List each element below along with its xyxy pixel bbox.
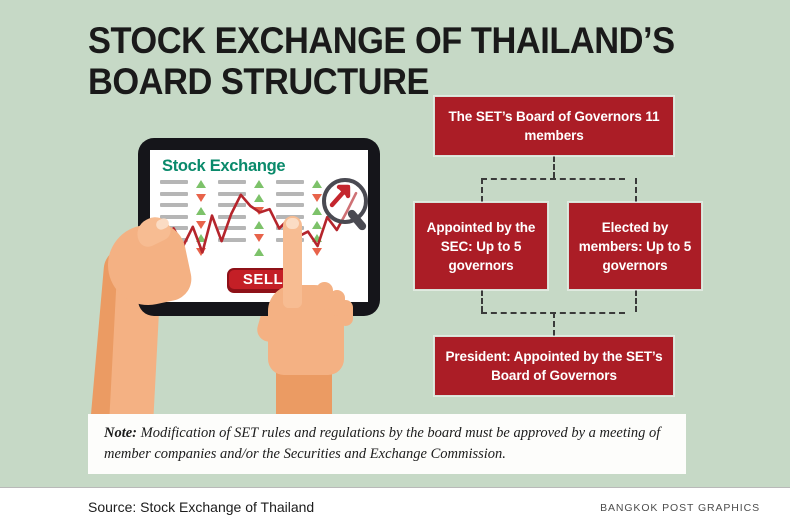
title-line-1: STOCK EXCHANGE OF THAILAND’S <box>88 20 646 61</box>
connector-top-vertical <box>553 156 555 178</box>
right-knuckle-3 <box>338 300 353 326</box>
page-title: STOCK EXCHANGE OF THAILAND’S BOARD STRUC… <box>88 20 688 102</box>
publisher-credit: BANGKOK POST GRAPHICS <box>600 502 760 514</box>
right-pointing-finger <box>283 216 302 308</box>
box-elected-by-members[interactable]: Elected by members: Up to 5 governors <box>568 202 702 290</box>
connector-left-bottom <box>481 290 483 312</box>
note-text: Note: Modification of SET rules and regu… <box>104 423 670 465</box>
connector-right-down <box>635 178 637 202</box>
screen-title: Stock Exchange <box>162 157 285 176</box>
source-credit: Source: Stock Exchange of Thailand <box>88 499 314 515</box>
box-appointed-by-sec[interactable]: Appointed by the SEC: Up to 5 governors <box>414 202 548 290</box>
right-fingernail <box>286 218 299 229</box>
box-board-of-governors[interactable]: The SET’s Board of Governors 11 members <box>434 96 674 156</box>
board-structure-flowchart: The SET’s Board of Governors 11 members … <box>400 96 700 406</box>
footer: Source: Stock Exchange of Thailand BANGK… <box>0 488 790 527</box>
note-box: Note: Modification of SET rules and regu… <box>88 414 686 474</box>
box-board-of-governors-label: The SET’s Board of Governors 11 members <box>441 107 667 145</box>
connector-right-bottom <box>635 290 637 312</box>
infographic-canvas: STOCK EXCHANGE OF THAILAND’S BOARD STRUC… <box>0 0 790 527</box>
box-president[interactable]: President: Appointed by the SET’s Board … <box>434 336 674 396</box>
box-appointed-by-sec-label: Appointed by the SEC: Up to 5 governors <box>421 218 541 275</box>
box-elected-by-members-label: Elected by members: Up to 5 governors <box>575 218 695 275</box>
up-trend-arrow-icon <box>328 182 354 208</box>
connector-left-down <box>481 178 483 202</box>
tablet-illustration: Stock Exchange <box>80 120 400 410</box>
box-president-label: President: Appointed by the SET’s Board … <box>441 347 667 385</box>
note-label: Note: <box>104 425 137 441</box>
connector-horizontal <box>481 178 625 180</box>
note-body: Modification of SET rules and regulation… <box>104 425 660 462</box>
connector-bottom-vertical <box>553 312 555 336</box>
